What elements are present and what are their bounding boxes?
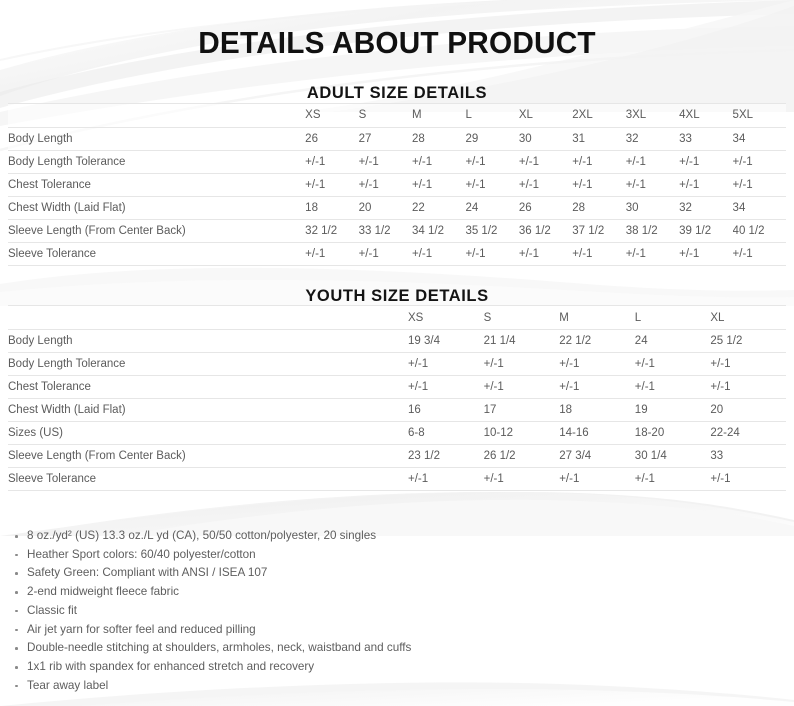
adult-cell: 33 1/2	[359, 219, 412, 242]
youth-cell: 20	[710, 399, 786, 422]
adult-cell: 26	[519, 196, 572, 219]
table-row: Body Length Tolerance+/-1+/-1+/-1+/-1+/-…	[8, 150, 786, 173]
youth-cell: 17	[484, 399, 560, 422]
adult-header-s: S	[359, 103, 412, 127]
adult-cell: 29	[465, 127, 518, 150]
youth-cell: 22 1/2	[559, 330, 635, 353]
adult-cell: 39 1/2	[679, 219, 732, 242]
youth-cell: 30 1/4	[635, 445, 711, 468]
youth-cell: 33	[710, 445, 786, 468]
adult-header-blank	[8, 103, 305, 127]
feature-list-item: 1x1 rib with spandex for enhanced stretc…	[10, 658, 411, 677]
adult-row-label: Sleeve Tolerance	[8, 242, 305, 265]
adult-cell: +/-1	[359, 150, 412, 173]
adult-cell: +/-1	[733, 150, 786, 173]
adult-cell: 31	[572, 127, 625, 150]
adult-cell: +/-1	[626, 242, 679, 265]
table-row: Sleeve Length (From Center Back)32 1/233…	[8, 219, 786, 242]
adult-cell: +/-1	[359, 242, 412, 265]
youth-cell: +/-1	[635, 468, 711, 491]
youth-row-label: Sizes (US)	[8, 422, 408, 445]
feature-list-item: Tear away label	[10, 677, 411, 696]
adult-cell: 32	[626, 127, 679, 150]
youth-row-label: Sleeve Length (From Center Back)	[8, 445, 408, 468]
youth-header-l: L	[635, 306, 711, 330]
adult-cell: +/-1	[679, 173, 732, 196]
youth-header-m: M	[559, 306, 635, 330]
youth-row-label: Chest Width (Laid Flat)	[8, 399, 408, 422]
adult-header-l: L	[465, 103, 518, 127]
youth-cell: +/-1	[635, 353, 711, 376]
adult-header-2xl: 2XL	[572, 103, 625, 127]
youth-table-body: Body Length19 3/421 1/422 1/22425 1/2Bod…	[8, 330, 786, 491]
youth-header-row: XS S M L XL	[8, 306, 786, 330]
adult-cell: 40 1/2	[733, 219, 786, 242]
adult-cell: +/-1	[572, 242, 625, 265]
adult-header-xl: XL	[519, 103, 572, 127]
youth-row-label: Body Length	[8, 330, 408, 353]
adult-cell: +/-1	[412, 242, 465, 265]
adult-cell: +/-1	[572, 150, 625, 173]
youth-cell: +/-1	[408, 376, 484, 399]
youth-cell: 26 1/2	[484, 445, 560, 468]
youth-cell: +/-1	[484, 353, 560, 376]
youth-cell: 27 3/4	[559, 445, 635, 468]
adult-cell: 38 1/2	[626, 219, 679, 242]
youth-size-table: XS S M L XL Body Length19 3/421 1/422 1/…	[8, 305, 786, 491]
adult-header-row: XS S M L XL 2XL 3XL 4XL 5XL	[8, 103, 786, 127]
adult-cell: +/-1	[679, 242, 732, 265]
adult-cell: +/-1	[626, 150, 679, 173]
adult-cell: +/-1	[465, 150, 518, 173]
youth-cell: 19 3/4	[408, 330, 484, 353]
youth-cell: +/-1	[559, 376, 635, 399]
adult-cell: +/-1	[519, 242, 572, 265]
youth-cell: 25 1/2	[710, 330, 786, 353]
content-layer: DETAILS ABOUT PRODUCT ADULT SIZE DETAILS…	[0, 0, 794, 706]
adult-cell: 33	[679, 127, 732, 150]
adult-cell: 28	[412, 127, 465, 150]
adult-cell: +/-1	[626, 173, 679, 196]
adult-cell: 32 1/2	[305, 219, 358, 242]
youth-cell: +/-1	[408, 468, 484, 491]
adult-header-m: M	[412, 103, 465, 127]
youth-cell: 16	[408, 399, 484, 422]
adult-cell: +/-1	[305, 173, 358, 196]
adult-header-5xl: 5XL	[733, 103, 786, 127]
youth-size-heading: YOUTH SIZE DETAILS	[12, 266, 782, 306]
adult-table-head: XS S M L XL 2XL 3XL 4XL 5XL	[8, 103, 786, 127]
youth-cell: 18	[559, 399, 635, 422]
table-row: Chest Tolerance+/-1+/-1+/-1+/-1+/-1	[8, 376, 786, 399]
adult-cell: +/-1	[733, 242, 786, 265]
adult-cell: 37 1/2	[572, 219, 625, 242]
table-row: Sleeve Length (From Center Back)23 1/226…	[8, 445, 786, 468]
adult-cell: 18	[305, 196, 358, 219]
youth-cell: 10-12	[484, 422, 560, 445]
page-title: DETAILS ABOUT PRODUCT	[16, 0, 778, 60]
adult-cell: +/-1	[519, 173, 572, 196]
youth-row-label: Chest Tolerance	[8, 376, 408, 399]
youth-cell: 14-16	[559, 422, 635, 445]
adult-header-xs: XS	[305, 103, 358, 127]
youth-cell: +/-1	[710, 353, 786, 376]
adult-cell: 22	[412, 196, 465, 219]
youth-header-xl: XL	[710, 306, 786, 330]
youth-cell: +/-1	[484, 376, 560, 399]
youth-header-blank	[8, 306, 408, 330]
table-row: Chest Width (Laid Flat)1617181920	[8, 399, 786, 422]
adult-cell: +/-1	[465, 173, 518, 196]
product-feature-list: 8 oz./yd² (US) 13.3 oz./L yd (CA), 50/50…	[10, 527, 411, 695]
youth-header-s: S	[484, 306, 560, 330]
table-row: Body Length19 3/421 1/422 1/22425 1/2	[8, 330, 786, 353]
youth-cell: +/-1	[710, 376, 786, 399]
adult-cell: 34 1/2	[412, 219, 465, 242]
adult-cell: 26	[305, 127, 358, 150]
adult-size-heading: ADULT SIZE DETAILS	[12, 60, 782, 103]
youth-header-xs: XS	[408, 306, 484, 330]
adult-header-3xl: 3XL	[626, 103, 679, 127]
adult-cell: 32	[679, 196, 732, 219]
table-row: Sleeve Tolerance+/-1+/-1+/-1+/-1+/-1+/-1…	[8, 242, 786, 265]
youth-row-label: Body Length Tolerance	[8, 353, 408, 376]
youth-cell: 18-20	[635, 422, 711, 445]
adult-cell: +/-1	[572, 173, 625, 196]
table-row: Sizes (US)6-810-1214-1618-2022-24	[8, 422, 786, 445]
adult-cell: 20	[359, 196, 412, 219]
adult-size-table: XS S M L XL 2XL 3XL 4XL 5XL Body Length2…	[8, 103, 786, 266]
youth-cell: +/-1	[484, 468, 560, 491]
youth-cell: 21 1/4	[484, 330, 560, 353]
youth-size-table-wrapper: XS S M L XL Body Length19 3/421 1/422 1/…	[8, 305, 786, 491]
youth-cell: 24	[635, 330, 711, 353]
adult-cell: +/-1	[305, 242, 358, 265]
adult-cell: +/-1	[359, 173, 412, 196]
table-row: Chest Tolerance+/-1+/-1+/-1+/-1+/-1+/-1+…	[8, 173, 786, 196]
product-details-page: DETAILS ABOUT PRODUCT ADULT SIZE DETAILS…	[0, 0, 794, 706]
table-row: Sleeve Tolerance+/-1+/-1+/-1+/-1+/-1	[8, 468, 786, 491]
adult-cell: 34	[733, 196, 786, 219]
adult-cell: +/-1	[679, 150, 732, 173]
youth-cell: +/-1	[559, 353, 635, 376]
youth-cell: +/-1	[710, 468, 786, 491]
adult-cell: 30	[626, 196, 679, 219]
youth-cell: +/-1	[635, 376, 711, 399]
youth-cell: 23 1/2	[408, 445, 484, 468]
adult-row-label: Chest Tolerance	[8, 173, 305, 196]
feature-list-item: 2-end midweight fleece fabric	[10, 583, 411, 602]
adult-cell: 28	[572, 196, 625, 219]
table-row: Body Length Tolerance+/-1+/-1+/-1+/-1+/-…	[8, 353, 786, 376]
youth-cell: 22-24	[710, 422, 786, 445]
feature-list-item: Safety Green: Compliant with ANSI / ISEA…	[10, 564, 411, 583]
feature-list-item: Heather Sport colors: 60/40 polyester/co…	[10, 546, 411, 565]
youth-cell: +/-1	[408, 353, 484, 376]
adult-header-4xl: 4XL	[679, 103, 732, 127]
youth-table-head: XS S M L XL	[8, 306, 786, 330]
feature-list-item: Air jet yarn for softer feel and reduced…	[10, 621, 411, 640]
table-row: Body Length262728293031323334	[8, 127, 786, 150]
adult-row-label: Sleeve Length (From Center Back)	[8, 219, 305, 242]
adult-row-label: Body Length Tolerance	[8, 150, 305, 173]
feature-list-item: Classic fit	[10, 602, 411, 621]
feature-list-item: Double-needle stitching at shoulders, ar…	[10, 639, 411, 658]
adult-cell: 24	[465, 196, 518, 219]
adult-cell: +/-1	[305, 150, 358, 173]
adult-cell: 35 1/2	[465, 219, 518, 242]
youth-cell: 19	[635, 399, 711, 422]
table-row: Chest Width (Laid Flat)18202224262830323…	[8, 196, 786, 219]
adult-table-body: Body Length262728293031323334Body Length…	[8, 127, 786, 265]
adult-cell: 27	[359, 127, 412, 150]
adult-cell: +/-1	[519, 150, 572, 173]
youth-cell: +/-1	[559, 468, 635, 491]
adult-cell: 34	[733, 127, 786, 150]
adult-cell: 30	[519, 127, 572, 150]
adult-cell: +/-1	[412, 150, 465, 173]
adult-cell: +/-1	[465, 242, 518, 265]
adult-cell: 36 1/2	[519, 219, 572, 242]
youth-cell: 6-8	[408, 422, 484, 445]
adult-cell: +/-1	[733, 173, 786, 196]
youth-row-label: Sleeve Tolerance	[8, 468, 408, 491]
adult-row-label: Chest Width (Laid Flat)	[8, 196, 305, 219]
feature-list-item: 8 oz./yd² (US) 13.3 oz./L yd (CA), 50/50…	[10, 527, 411, 546]
adult-cell: +/-1	[412, 173, 465, 196]
adult-size-table-wrapper: XS S M L XL 2XL 3XL 4XL 5XL Body Length2…	[8, 103, 786, 266]
adult-row-label: Body Length	[8, 127, 305, 150]
